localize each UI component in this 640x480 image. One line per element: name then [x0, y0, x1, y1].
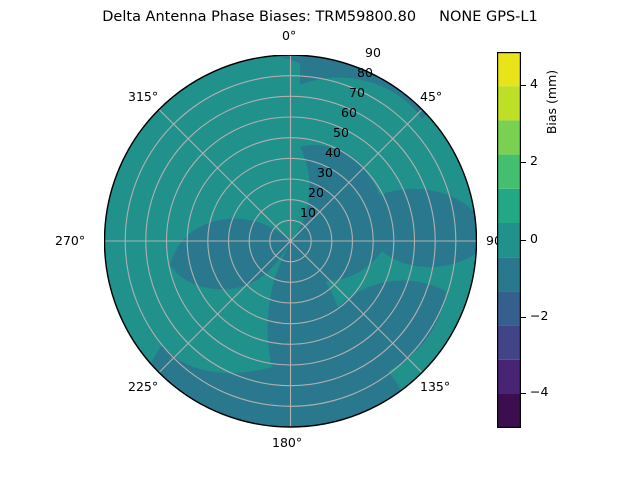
- theta-label-270: 270°: [55, 235, 85, 248]
- theta-label-0: 0°: [282, 30, 296, 43]
- colorbar-tick-mark-2: [521, 162, 526, 163]
- colorbar: [497, 52, 521, 428]
- colorbar-band-4: [497, 257, 521, 291]
- colorbar-tick-m2: −2: [530, 310, 548, 323]
- colorbar-band-7: [497, 155, 521, 189]
- colorbar-bands: [497, 52, 521, 428]
- colorbar-band-10: [497, 52, 521, 86]
- r-label-30: 30: [317, 167, 333, 180]
- polar-plot-canvas: [104, 55, 477, 428]
- colorbar-band-3: [497, 291, 521, 325]
- r-label-90: 90: [365, 47, 381, 60]
- colorbar-axis-label: Bias (mm): [544, 32, 559, 172]
- page-title: Delta Antenna Phase Biases: TRM59800.80 …: [0, 9, 640, 25]
- r-label-10: 10: [300, 207, 316, 220]
- r-label-50: 50: [333, 127, 349, 140]
- colorbar-band-9: [497, 86, 521, 120]
- r-label-40: 40: [325, 147, 341, 160]
- colorbar-tick-mark-4: [521, 85, 526, 86]
- colorbar-band-6: [497, 189, 521, 223]
- colorbar-band-2: [497, 326, 521, 360]
- theta-label-180: 180°: [272, 437, 302, 450]
- polar-grid-spokes: [105, 55, 477, 427]
- colorbar-tick-m4: −4: [530, 386, 548, 399]
- r-label-80: 80: [357, 67, 373, 80]
- colorbar-tick-2: 2: [530, 155, 538, 168]
- theta-label-45: 45°: [420, 91, 442, 104]
- colorbar-gradient: [497, 52, 521, 428]
- colorbar-band-5: [497, 223, 521, 257]
- r-label-70: 70: [349, 87, 365, 100]
- polar-plot: 0° 45° 90 135° 180° 225° 270° 315° 10 20…: [104, 55, 477, 428]
- colorbar-band-1: [497, 360, 521, 394]
- theta-label-135: 135°: [420, 381, 450, 394]
- colorbar-band-0: [497, 394, 521, 428]
- colorbar-tick-mark-m2: [521, 317, 526, 318]
- colorbar-band-8: [497, 120, 521, 154]
- colorbar-tick-mark-0: [521, 240, 526, 241]
- theta-label-225: 225°: [128, 381, 158, 394]
- colorbar-tick-mark-m4: [521, 393, 526, 394]
- r-label-20: 20: [308, 187, 324, 200]
- colorbar-tick-0: 0: [530, 233, 538, 246]
- theta-label-315: 315°: [128, 91, 158, 104]
- colorbar-tick-4: 4: [530, 78, 538, 91]
- r-label-60: 60: [341, 107, 357, 120]
